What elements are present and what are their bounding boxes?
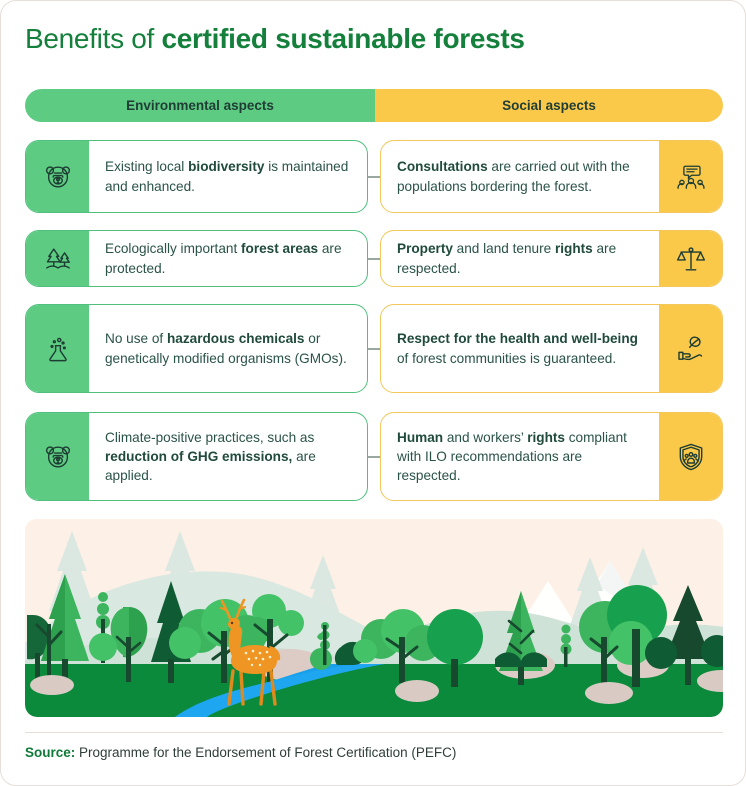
hand-leaf-icon: [659, 305, 722, 392]
card-social-4: Human and workers’ rights compliant with…: [380, 412, 723, 501]
tab-environmental-label: Environmental aspects: [126, 98, 274, 113]
r2r-bold: Property: [397, 241, 453, 256]
card-social-3-text: Respect for the health and well-being of…: [381, 305, 659, 392]
r1l-pre: Existing local: [105, 159, 188, 174]
scales-of-justice-icon: [659, 231, 722, 286]
card-environmental-2: Ecologically important forest areas are …: [25, 230, 368, 287]
r3r-bold: Respect for the health and well-being: [397, 331, 638, 346]
sustainable-forest-illustration: [25, 519, 723, 717]
tab-social-label: Social aspects: [502, 98, 596, 113]
card-social-2: Property and land tenure rights are resp…: [380, 230, 723, 287]
shield-people-icon: [659, 413, 722, 500]
card-social-1: Consultations are carried out with the p…: [380, 140, 723, 213]
r3l-bold: hazardous chemicals: [167, 331, 305, 346]
r4l-pre: Climate-positive practices, such as: [105, 430, 314, 445]
r2l-bold: forest areas: [241, 241, 318, 256]
footer-divider: [25, 732, 723, 733]
tab-environmental-aspects[interactable]: Environmental aspects: [25, 89, 375, 122]
r4r-bold2: rights: [527, 430, 565, 445]
r2r-bold2: rights: [555, 241, 593, 256]
source-label: Source:: [25, 745, 75, 760]
r1l-bold: biodiversity: [188, 159, 264, 174]
title-bold: certified sustainable forests: [161, 23, 524, 54]
card-environmental-3: No use of hazardous chemicals or genetic…: [25, 304, 368, 393]
infographic-frame: Benefits of certified sustainable forest…: [0, 0, 746, 786]
r2l-pre: Ecologically important: [105, 241, 241, 256]
r3r-post: of forest communities is guaranteed.: [397, 351, 616, 366]
card-social-3: Respect for the health and well-being of…: [380, 304, 723, 393]
card-environmental-1: Existing local biodiversity is maintaine…: [25, 140, 368, 213]
trees-icon: [26, 231, 89, 286]
r1r-bold: Consultations: [397, 159, 488, 174]
category-header-bar: Environmental aspects Social aspects: [25, 89, 723, 122]
r3l-pre: No use of: [105, 331, 167, 346]
r2r-mid: and land tenure: [453, 241, 555, 256]
flask-chemicals-icon: [26, 305, 89, 392]
source-note: Source: Programme for the Endorsement of…: [25, 745, 456, 760]
card-environmental-3-text: No use of hazardous chemicals or genetic…: [89, 305, 367, 392]
bear-face-icon: [26, 413, 89, 500]
r4r-mid: and workers’: [443, 430, 527, 445]
card-environmental-2-text: Ecologically important forest areas are …: [89, 231, 367, 286]
card-social-2-text: Property and land tenure rights are resp…: [381, 231, 659, 286]
r4r-bold: Human: [397, 430, 443, 445]
card-social-1-text: Consultations are carried out with the p…: [381, 141, 659, 212]
card-environmental-4: Climate-positive practices, such as redu…: [25, 412, 368, 501]
r4l-bold: reduction of GHG emissions,: [105, 449, 292, 464]
title-light: Benefits of: [25, 23, 161, 54]
card-environmental-1-text: Existing local biodiversity is maintaine…: [89, 141, 367, 212]
card-social-4-text: Human and workers’ rights compliant with…: [381, 413, 659, 500]
tab-social-aspects[interactable]: Social aspects: [375, 89, 723, 122]
source-text: Programme for the Endorsement of Forest …: [75, 745, 456, 760]
people-consultation-icon: [659, 141, 722, 212]
card-environmental-4-text: Climate-positive practices, such as redu…: [89, 413, 367, 500]
page-title: Benefits of certified sustainable forest…: [25, 23, 525, 55]
bear-face-icon: [26, 141, 89, 212]
